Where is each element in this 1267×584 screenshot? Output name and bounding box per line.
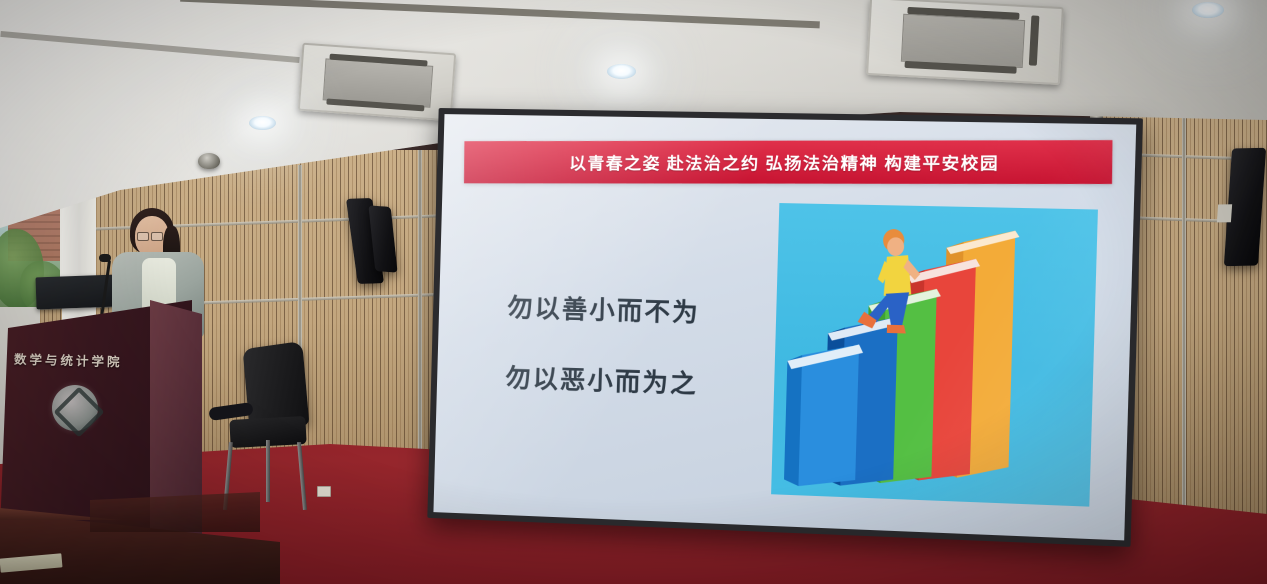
university-emblem xyxy=(52,385,98,431)
projection-screen[interactable]: 以青春之姿 赴法治之约 弘扬法治精神 构建平安校园 勿以善小而不为 勿以恶小而为… xyxy=(427,108,1143,547)
slide-text-block: 勿以善小而不为 勿以恶小而为之 xyxy=(433,166,764,525)
wall-power-outlet xyxy=(317,486,331,497)
ceiling-downlight-left xyxy=(249,116,276,130)
slide-line-1: 勿以善小而不为 xyxy=(507,288,700,330)
gooseneck-microphone-head xyxy=(99,254,111,262)
lecture-hall-photo: 以青春之姿 赴法治之约 弘扬法治精神 构建平安校园 勿以善小而不为 勿以恶小而为… xyxy=(0,0,1267,584)
ceiling-downlight-center xyxy=(607,64,636,79)
speaker-bracket-right xyxy=(1217,204,1232,222)
books-illustration-svg xyxy=(771,203,1098,507)
ac-center-panel-right xyxy=(901,14,1025,68)
wall-trim-vertical-mid xyxy=(418,150,422,480)
ceiling-ac-unit-left xyxy=(298,43,456,122)
podium-label: 数学与统计学院 xyxy=(14,349,123,371)
figure-shoe-front xyxy=(887,325,906,334)
ceiling-downlight-right xyxy=(1192,2,1224,18)
slide-body: 勿以善小而不为 勿以恶小而为之 xyxy=(433,166,1134,541)
presenter-glasses-left xyxy=(137,232,149,241)
slide-artwork-column xyxy=(754,172,1135,541)
person-climbing-books-illustration xyxy=(771,203,1098,507)
ceiling-ac-unit-right xyxy=(866,0,1064,85)
presentation-slide: 以青春之姿 赴法治之约 弘扬法治精神 构建平安校园 勿以善小而不为 勿以恶小而为… xyxy=(433,114,1136,540)
slide-line-2: 勿以恶小而为之 xyxy=(505,358,698,401)
ceiling-dome-camera xyxy=(198,153,220,169)
ac-grill-side xyxy=(1029,15,1040,65)
chair-leg-rear xyxy=(266,440,270,502)
wall-trim-vertical-right xyxy=(1182,100,1186,520)
presenter-glasses-right xyxy=(151,232,163,241)
